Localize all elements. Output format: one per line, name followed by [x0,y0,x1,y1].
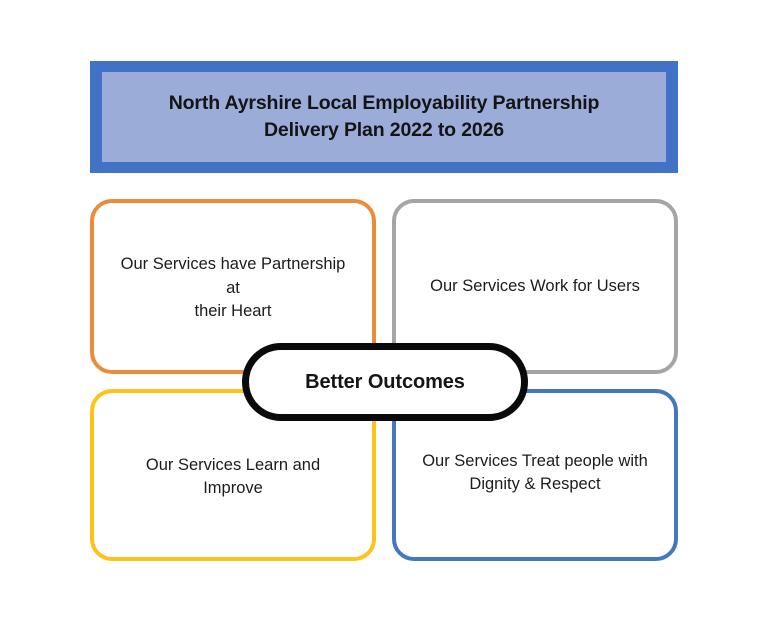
centre-outcome-pill: Better Outcomes [242,343,528,421]
quadrant-label-learn: Our Services Learn and Improve [94,454,372,501]
centre-outcome-label: Better Outcomes [305,371,465,394]
diagram-canvas: North Ayrshire Local Employability Partn… [0,0,768,632]
quadrant-label-partnership: Our Services have Partnership at their H… [94,253,372,323]
header-banner-inner: North Ayrshire Local Employability Partn… [102,72,666,162]
quadrant-label-dignity: Our Services Treat people with Dignity &… [396,450,674,497]
header-banner: North Ayrshire Local Employability Partn… [90,61,678,173]
page-title: North Ayrshire Local Employability Partn… [155,90,614,144]
quadrant-label-users: Our Services Work for Users [404,275,666,298]
